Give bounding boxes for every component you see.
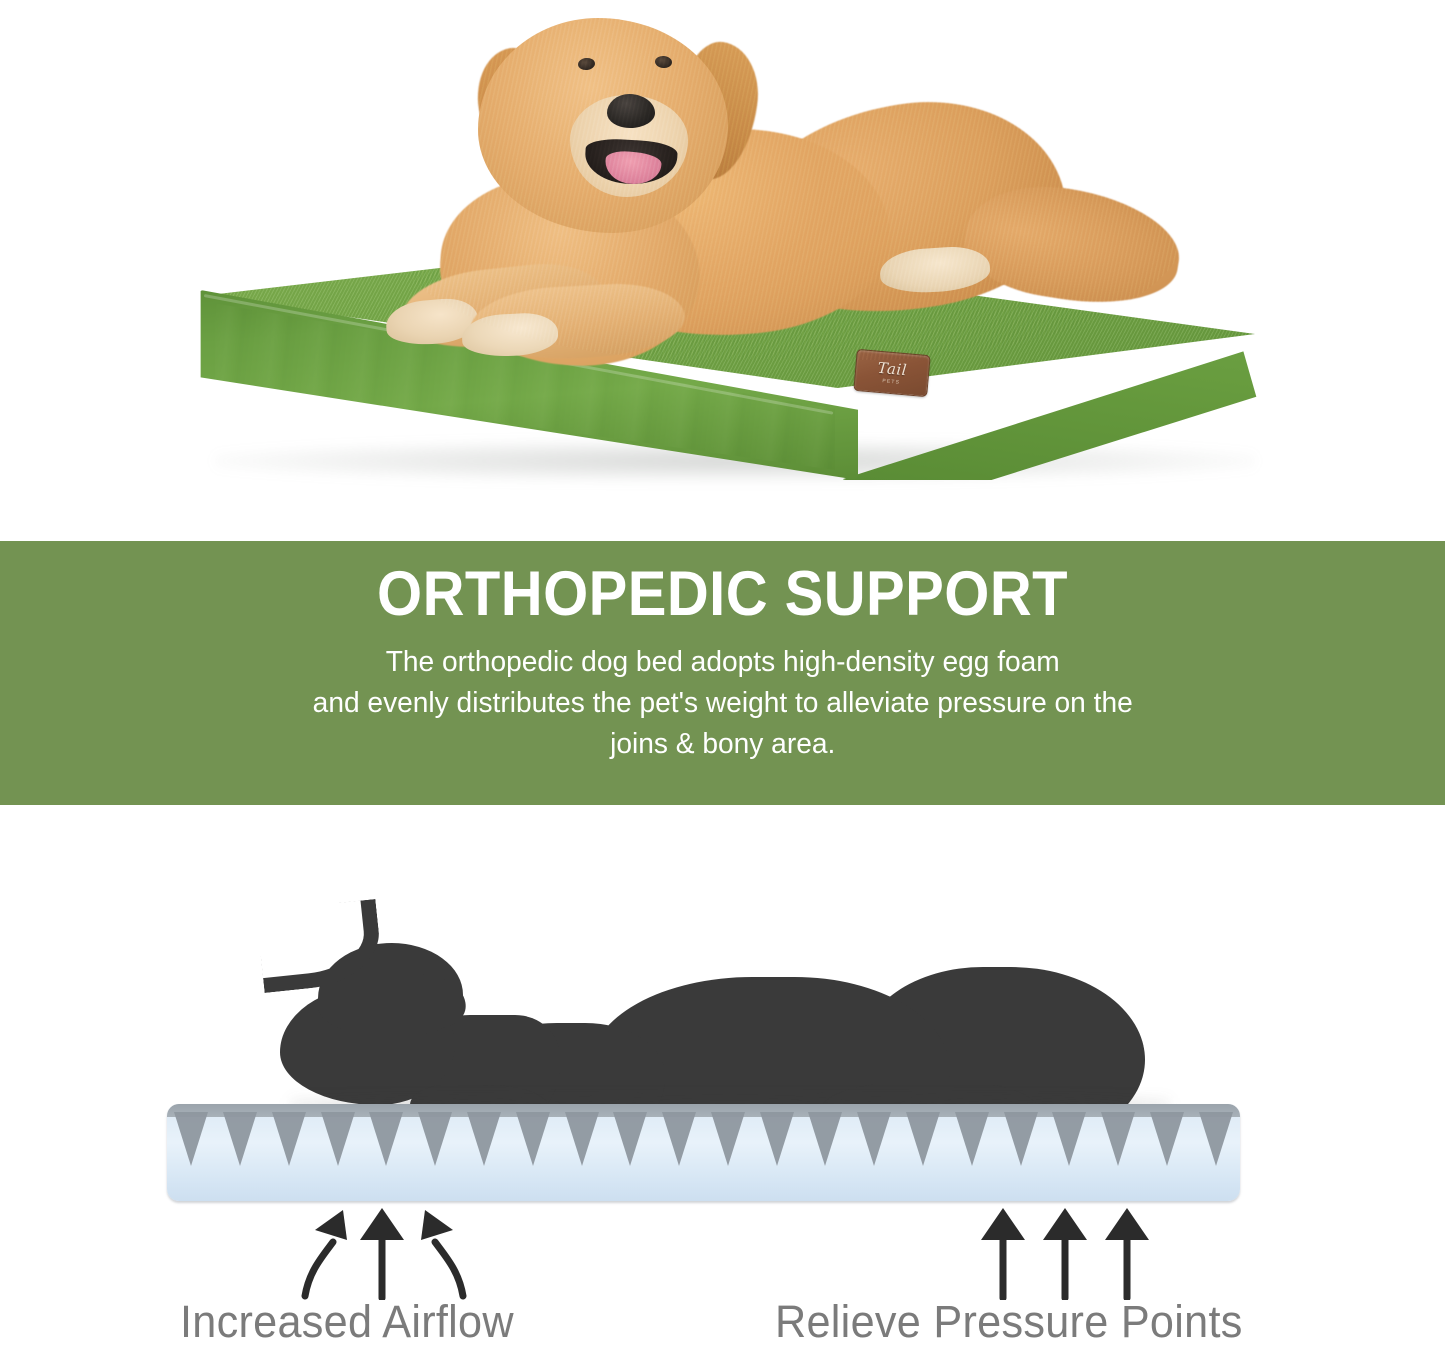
airflow-arrow-straight (357, 1208, 407, 1300)
foam-peak (1052, 1112, 1086, 1166)
golden-retriever-photo (0, 0, 1445, 541)
foam-peak (1199, 1112, 1233, 1166)
foam-peak (1004, 1112, 1038, 1166)
banner-body-text: The orthopedic dog bed adopts high-densi… (312, 642, 1132, 766)
foam-peak (1101, 1112, 1135, 1166)
pressure-arrow-1 (978, 1208, 1028, 1300)
hero-stage: Tail PETS (0, 0, 1445, 541)
foam-peak-row (167, 1112, 1240, 1174)
pressure-arrow-3 (1102, 1208, 1152, 1300)
foam-peak (565, 1112, 599, 1166)
foam-peak (662, 1112, 696, 1166)
banner-body-line-3: joins & bony area. (312, 724, 1132, 765)
foam-peak (711, 1112, 745, 1166)
foam-peak (418, 1112, 452, 1166)
foam-peak (467, 1112, 501, 1166)
banner-title: ORTHOPEDIC SUPPORT (377, 563, 1068, 626)
foam-peak (516, 1112, 550, 1166)
foam-peak (369, 1112, 403, 1166)
hero-photo-section: Tail PETS (0, 0, 1445, 541)
pressure-arrows (978, 1208, 1178, 1303)
dog-nose (607, 94, 655, 128)
foam-peak (857, 1112, 891, 1166)
foam-peak (760, 1112, 794, 1166)
caption-relieve-pressure-points: Relieve Pressure Points (775, 1296, 1243, 1348)
product-feature-page: Tail PETS (0, 0, 1445, 1349)
banner-body-line-2: and evenly distributes the pet's weight … (312, 683, 1132, 724)
egg-crate-foam-slab (167, 1104, 1240, 1201)
airflow-arrow-curved-left (295, 1208, 351, 1300)
orthopedic-support-banner: ORTHOPEDIC SUPPORT The orthopedic dog be… (0, 541, 1445, 805)
foam-peak (321, 1112, 355, 1166)
airflow-arrows (295, 1208, 505, 1303)
foam-peak (808, 1112, 842, 1166)
foam-peak (613, 1112, 647, 1166)
foam-peak (906, 1112, 940, 1166)
foam-peak (223, 1112, 257, 1166)
airflow-arrow-curved-right (417, 1208, 473, 1300)
banner-body-line-1: The orthopedic dog bed adopts high-densi… (312, 642, 1132, 683)
foam-peak (272, 1112, 306, 1166)
foam-peak (1150, 1112, 1184, 1166)
pressure-arrow-2 (1040, 1208, 1090, 1300)
foam-peak (955, 1112, 989, 1166)
caption-increased-airflow: Increased Airflow (180, 1296, 514, 1348)
foam-peak (174, 1112, 208, 1166)
